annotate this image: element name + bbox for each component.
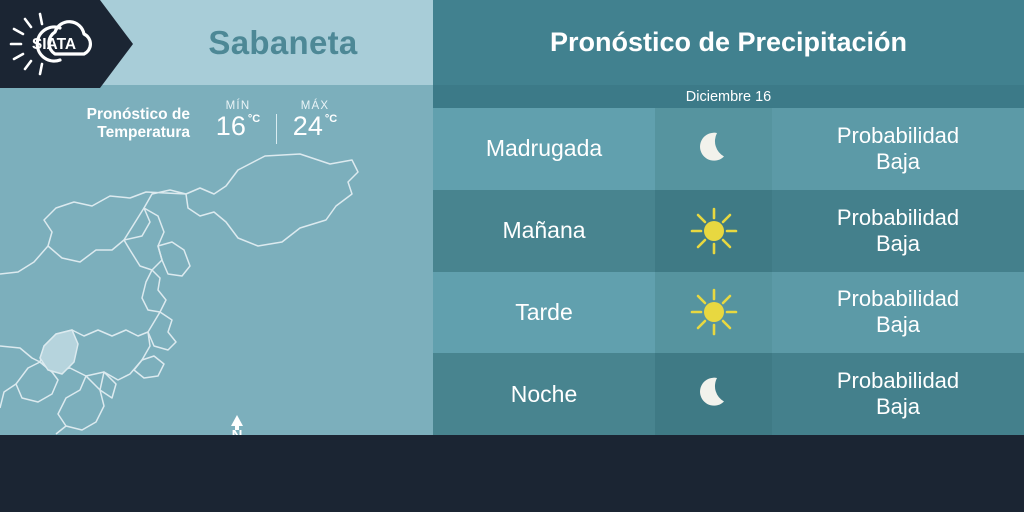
probability-line1: Probabilidad xyxy=(837,286,959,311)
period-label: Mañana xyxy=(433,190,655,272)
weather-infographic: SIATA Sabaneta Pronóstico de Temperatura… xyxy=(0,0,1024,512)
table-row: Noche ProbabilidadBaja xyxy=(433,353,1024,435)
municipality-map: N xyxy=(0,150,433,435)
weather-icon-cell xyxy=(655,272,772,354)
page-title: Sabaneta xyxy=(133,0,433,85)
moon-icon xyxy=(691,371,737,417)
table-row: Madrugada ProbabilidadBaja xyxy=(433,108,1024,190)
temperature-max: MÁX 24 °C xyxy=(279,100,351,140)
highlighted-municipality-sabaneta xyxy=(40,330,78,374)
precipitation-panel: Pronóstico de Precipitación Diciembre 16… xyxy=(433,0,1024,435)
north-arrow-head xyxy=(231,415,243,426)
weather-icon-cell xyxy=(655,353,772,435)
temperature-label: Pronóstico de Temperatura xyxy=(40,100,190,142)
temperature-min-unit: °C xyxy=(248,114,260,125)
probability-line2: Baja xyxy=(876,312,920,337)
siata-logo-text: SIATA xyxy=(32,36,76,53)
precipitation-title: Pronóstico de Precipitación xyxy=(433,0,1024,85)
temperature-min-value: 16 xyxy=(216,113,246,140)
probability-line1: Probabilidad xyxy=(837,123,959,148)
weather-icon-cell xyxy=(655,190,772,272)
forecast-date: Diciembre 16 xyxy=(433,85,1024,108)
temperature-label-line1: Pronóstico de xyxy=(40,106,190,124)
temperature-divider xyxy=(276,114,277,144)
weather-icon-cell xyxy=(655,108,772,190)
period-label: Madrugada xyxy=(433,108,655,190)
probability-line1: Probabilidad xyxy=(837,368,959,393)
aburra-valley-map xyxy=(0,150,433,435)
temperature-max-unit: °C xyxy=(325,114,337,125)
probability-label: ProbabilidadBaja xyxy=(772,353,1024,435)
temperature-min: MÍN 16 °C xyxy=(202,100,274,140)
moon-icon xyxy=(691,126,737,172)
sun-icon xyxy=(689,287,739,337)
probability-label: ProbabilidadBaja xyxy=(772,108,1024,190)
table-row: Tarde xyxy=(433,272,1024,354)
probability-line2: Baja xyxy=(876,394,920,419)
left-panel: SIATA Sabaneta Pronóstico de Temperatura… xyxy=(0,0,433,435)
siata-logo-icon: SIATA xyxy=(8,10,100,78)
probability-label: ProbabilidadBaja xyxy=(772,190,1024,272)
probability-line1: Probabilidad xyxy=(837,205,959,230)
temperature-label-line2: Temperatura xyxy=(40,124,190,142)
north-arrow: N xyxy=(224,415,250,435)
period-label: Tarde xyxy=(433,272,655,354)
temperature-max-value: 24 xyxy=(293,113,323,140)
precipitation-table: Madrugada ProbabilidadBaja Mañana xyxy=(433,108,1024,435)
period-label: Noche xyxy=(433,353,655,435)
probability-line2: Baja xyxy=(876,231,920,256)
probability-line2: Baja xyxy=(876,149,920,174)
sun-icon xyxy=(689,206,739,256)
table-row: Mañana xyxy=(433,190,1024,272)
probability-label: ProbabilidadBaja xyxy=(772,272,1024,354)
temperature-values: MÍN 16 °C MÁX 24 °C xyxy=(202,100,351,144)
footer: @siatamedellin www.siata.gov.co Con el a… xyxy=(0,435,1024,512)
